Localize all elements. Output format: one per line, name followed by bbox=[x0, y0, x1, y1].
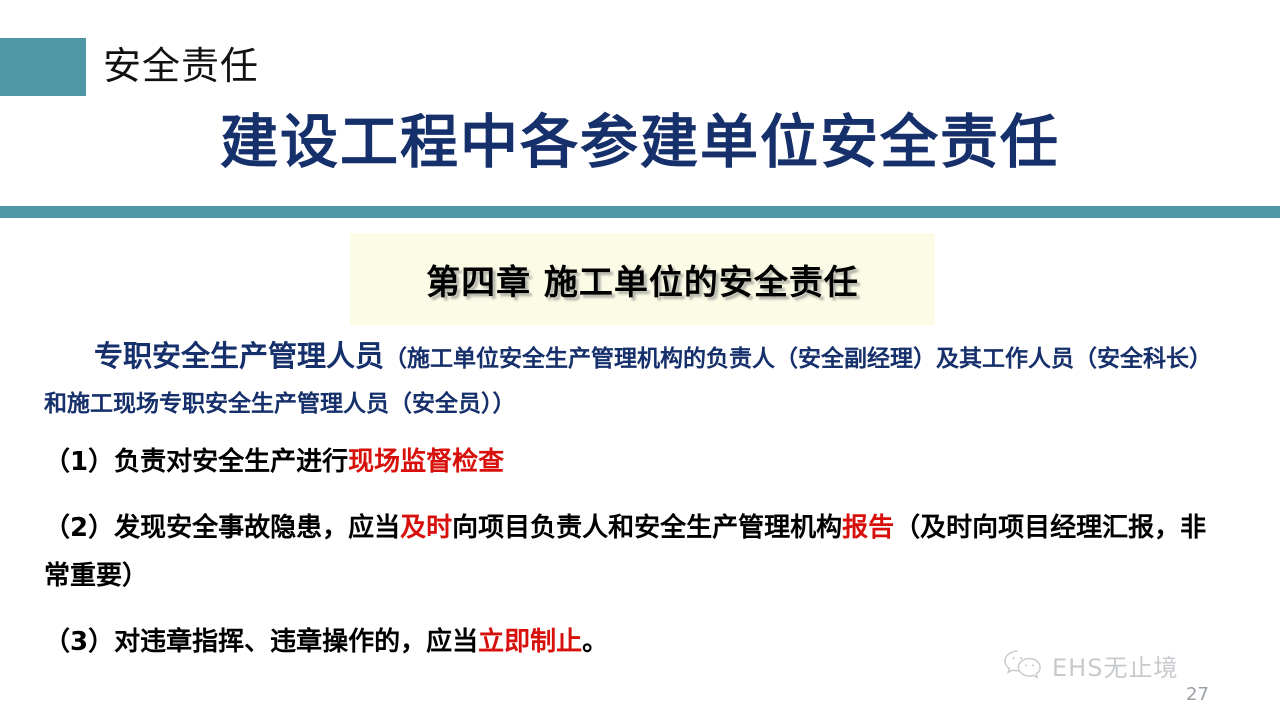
list-item: （1）负责对安全生产进行现场监督检查 bbox=[44, 442, 1224, 482]
page-number: 27 bbox=[1186, 684, 1209, 705]
list-item-number: （3） bbox=[44, 627, 114, 657]
body-content: 专职安全生产管理人员（施工单位安全生产管理机构的负责人（安全副经理）及其工作人员… bbox=[44, 334, 1224, 662]
lead-paragraph: 专职安全生产管理人员（施工单位安全生产管理机构的负责人（安全副经理）及其工作人员… bbox=[44, 334, 1224, 426]
list-item-text: 。 bbox=[582, 627, 608, 657]
list-item-highlight: 现场监督检查 bbox=[348, 447, 504, 477]
list-item-highlight: 立即制止 bbox=[478, 627, 582, 657]
watermark: EHS无止境 bbox=[1002, 648, 1178, 683]
list-item-text: 发现安全事故隐患，应当 bbox=[114, 513, 400, 543]
list-item-text: 对违章指挥、违章操作的，应当 bbox=[114, 627, 478, 657]
list-item: （2）发现安全事故隐患，应当及时向项目负责人和安全生产管理机构报告（及时向项目经… bbox=[44, 504, 1224, 600]
wechat-icon bbox=[1002, 649, 1044, 683]
list-item-highlight: 及时 bbox=[400, 513, 452, 543]
list-item-number: （2） bbox=[44, 513, 114, 543]
list-item-text: 向项目负责人和安全生产管理机构 bbox=[452, 513, 842, 543]
chapter-heading: 第四章 施工单位的安全责任 bbox=[350, 233, 935, 325]
list-item-highlight: 报告 bbox=[842, 513, 894, 543]
slide: 安全责任 建设工程中各参建单位安全责任 第四章 施工单位的安全责任 专职安全生产… bbox=[0, 0, 1280, 720]
lead-paragraph-emphasis: 专职安全生产管理人员 bbox=[94, 339, 384, 373]
list-item-number: （1） bbox=[44, 447, 114, 477]
page-title: 建设工程中各参建单位安全责任 bbox=[0, 104, 1280, 180]
watermark-label: EHS无止境 bbox=[1052, 648, 1178, 683]
header-kicker: 安全责任 bbox=[103, 40, 259, 92]
header-accent-block bbox=[0, 38, 86, 96]
list-item-text: 负责对安全生产进行 bbox=[114, 447, 348, 477]
header-divider bbox=[0, 206, 1280, 218]
